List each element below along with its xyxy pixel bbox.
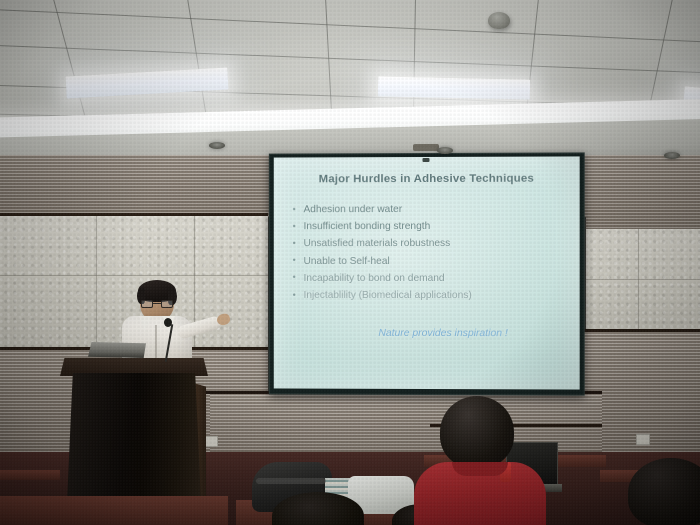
wall-reveal — [0, 213, 268, 216]
slide-bullet-item: Adhesion under water — [304, 201, 564, 219]
panel-seam — [638, 227, 639, 333]
ceiling-grid-line — [49, 0, 89, 127]
desk-surface-left — [0, 496, 228, 525]
panel-seam — [586, 279, 700, 280]
slide-bullet-item: Insufficient bonding strength — [304, 218, 564, 236]
ceiling-grid-line — [184, 0, 208, 129]
panel-seam — [0, 275, 268, 276]
slide-bullet-item: Injectablility (Biomedical applications) — [304, 287, 564, 304]
lecture-hall-photo: Major Hurdles in Adhesive Techniques Adh… — [0, 0, 700, 525]
slide-tagline: Nature provides inspiration ! — [290, 328, 564, 340]
podium-laptop — [88, 342, 146, 360]
slide-title: Major Hurdles in Adhesive Techniques — [290, 173, 564, 186]
glasses-lens — [141, 300, 153, 308]
glasses-bridge — [153, 303, 161, 304]
audience-person-collar — [452, 462, 508, 476]
screen-center-nub — [423, 158, 430, 162]
audience-person-head — [440, 396, 514, 468]
desk-rail — [0, 470, 60, 480]
ceiling-grid-line — [0, 44, 700, 75]
screen-mount — [413, 144, 439, 151]
wall-reveal — [584, 329, 700, 332]
presentation-slide: Major Hurdles in Adhesive Techniques Adh… — [274, 156, 580, 389]
microphone-icon — [164, 318, 172, 327]
ceiling-grid-line — [0, 8, 700, 44]
power-outlet-icon — [636, 434, 650, 445]
glasses-lens — [161, 300, 173, 308]
panel-seam — [96, 215, 97, 351]
smoke-detector-icon — [488, 12, 510, 29]
wall-slats-upper-right — [586, 155, 700, 229]
projection-screen: Major Hurdles in Adhesive Techniques Adh… — [269, 152, 585, 395]
audience-person-head — [628, 458, 700, 525]
downlight-icon — [664, 152, 680, 159]
downlight-icon — [437, 147, 453, 154]
ceiling-light-panel — [66, 67, 229, 98]
laptop-screen — [88, 342, 146, 358]
screen-surface: Major Hurdles in Adhesive Techniques Adh… — [274, 156, 580, 389]
slide-bullet-item: Incapability to bond on demand — [304, 270, 564, 287]
wall-acoustic-right — [586, 227, 700, 333]
eyeglasses-icon — [141, 300, 173, 308]
backpack-strap — [256, 478, 326, 484]
slide-bullet-list: Adhesion under water Insufficient bondin… — [290, 201, 564, 305]
ceiling-light-panel — [378, 76, 530, 99]
slide-bullet-item: Unable to Self-heal — [304, 253, 564, 270]
slide-bullet-item: Unsatisfied materials robustness — [304, 235, 564, 252]
downlight-icon — [209, 142, 225, 149]
